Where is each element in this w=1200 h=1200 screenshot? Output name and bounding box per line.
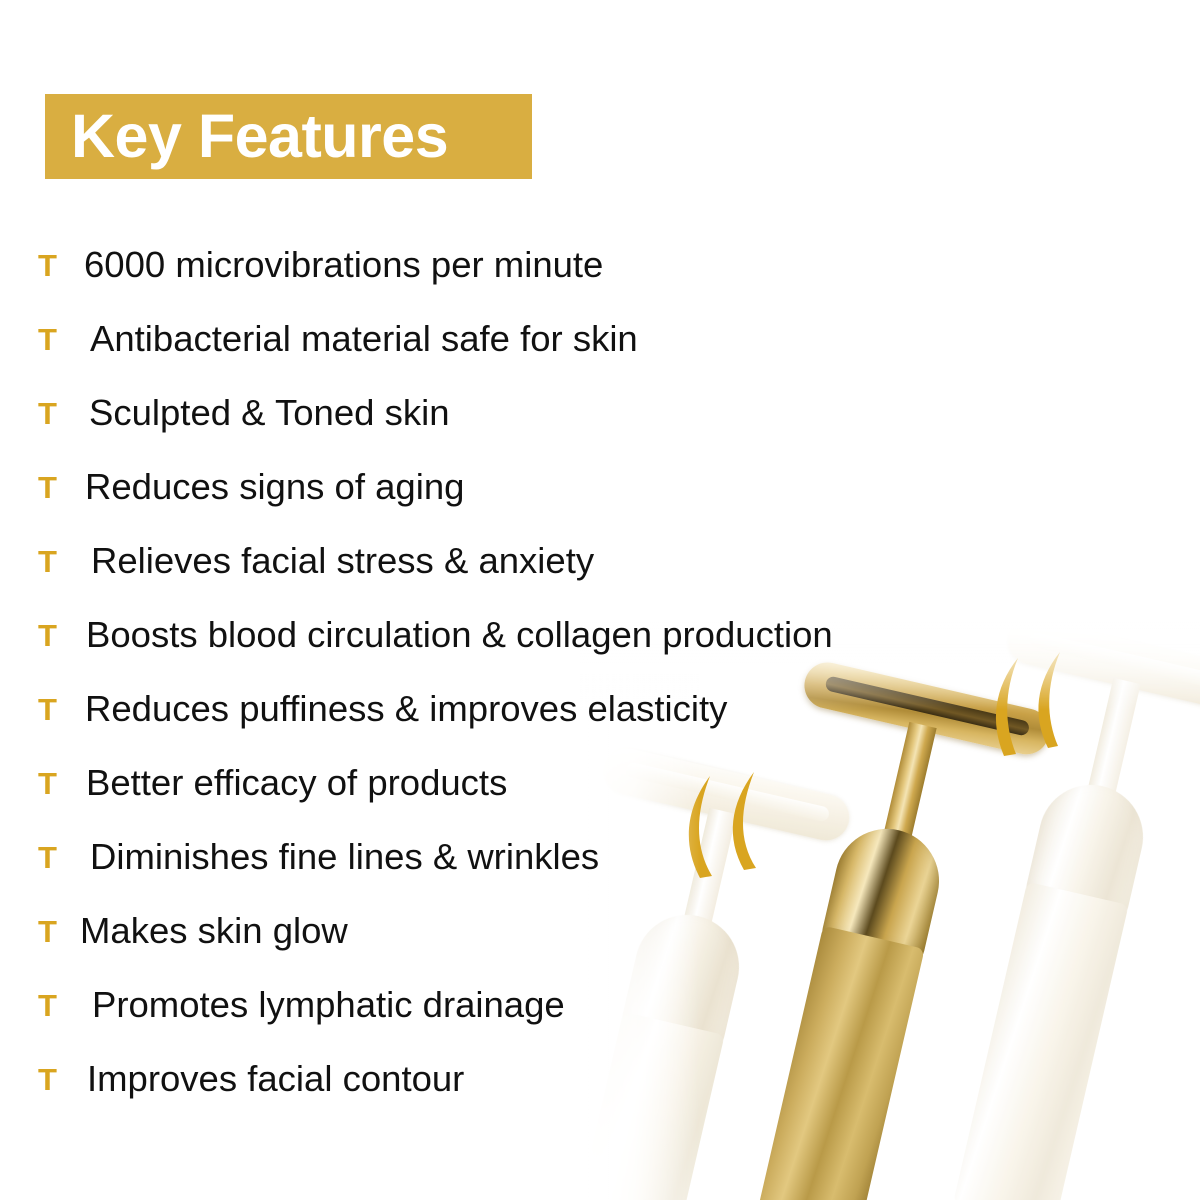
feature-label: Improves facial contour <box>87 1060 464 1098</box>
feature-label: Makes skin glow <box>80 912 348 950</box>
feature-label: Relieves facial stress & anxiety <box>91 542 594 580</box>
t-bullet-icon: T <box>38 990 68 1021</box>
t-bullet-icon: T <box>38 620 68 651</box>
list-item: T Makes skin glow <box>38 894 1038 968</box>
t-bullet-icon: T <box>38 398 68 429</box>
t-bullet-icon: T <box>38 250 68 281</box>
key-features-header-band: Key Features <box>45 94 532 179</box>
list-item: T Reduces puffiness & improves elasticit… <box>38 672 1038 746</box>
feature-label: Boosts blood circulation & collagen prod… <box>86 616 833 654</box>
t-bullet-icon: T <box>38 916 68 947</box>
ghost-right-neck <box>1086 678 1140 801</box>
list-item: T 6000 microvibrations per minute <box>38 228 1038 302</box>
feature-label: Reduces signs of aging <box>85 468 464 506</box>
key-features-list: T 6000 microvibrations per minute T Anti… <box>38 228 1038 1116</box>
list-item: T Boosts blood circulation & collagen pr… <box>38 598 1038 672</box>
feature-label: Diminishes fine lines & wrinkles <box>90 838 599 876</box>
list-item: T Promotes lymphatic drainage <box>38 968 1038 1042</box>
feature-label: Better efficacy of products <box>86 764 507 802</box>
t-bullet-icon: T <box>38 472 68 503</box>
t-bullet-icon: T <box>38 842 68 873</box>
feature-label: 6000 microvibrations per minute <box>84 246 603 284</box>
list-item: T Sculpted & Toned skin <box>38 376 1038 450</box>
t-bullet-icon: T <box>38 324 68 355</box>
feature-label: Promotes lymphatic drainage <box>92 986 565 1024</box>
t-bullet-icon: T <box>38 768 68 799</box>
feature-label: Reduces puffiness & improves elasticity <box>85 690 727 728</box>
infographic-page: Key Features <box>0 0 1200 1200</box>
t-bullet-icon: T <box>38 546 68 577</box>
page-title: Key Features <box>45 106 448 167</box>
list-item: T Reduces signs of aging <box>38 450 1038 524</box>
list-item: T Improves facial contour <box>38 1042 1038 1116</box>
list-item: T Better efficacy of products <box>38 746 1038 820</box>
feature-label: Sculpted & Toned skin <box>89 394 450 432</box>
t-bullet-icon: T <box>38 1064 68 1095</box>
list-item: T Antibacterial material safe for skin <box>38 302 1038 376</box>
feature-label: Antibacterial material safe for skin <box>90 320 638 358</box>
list-item: T Relieves facial stress & anxiety <box>38 524 1038 598</box>
t-bullet-icon: T <box>38 694 68 725</box>
list-item: T Diminishes fine lines & wrinkles <box>38 820 1038 894</box>
